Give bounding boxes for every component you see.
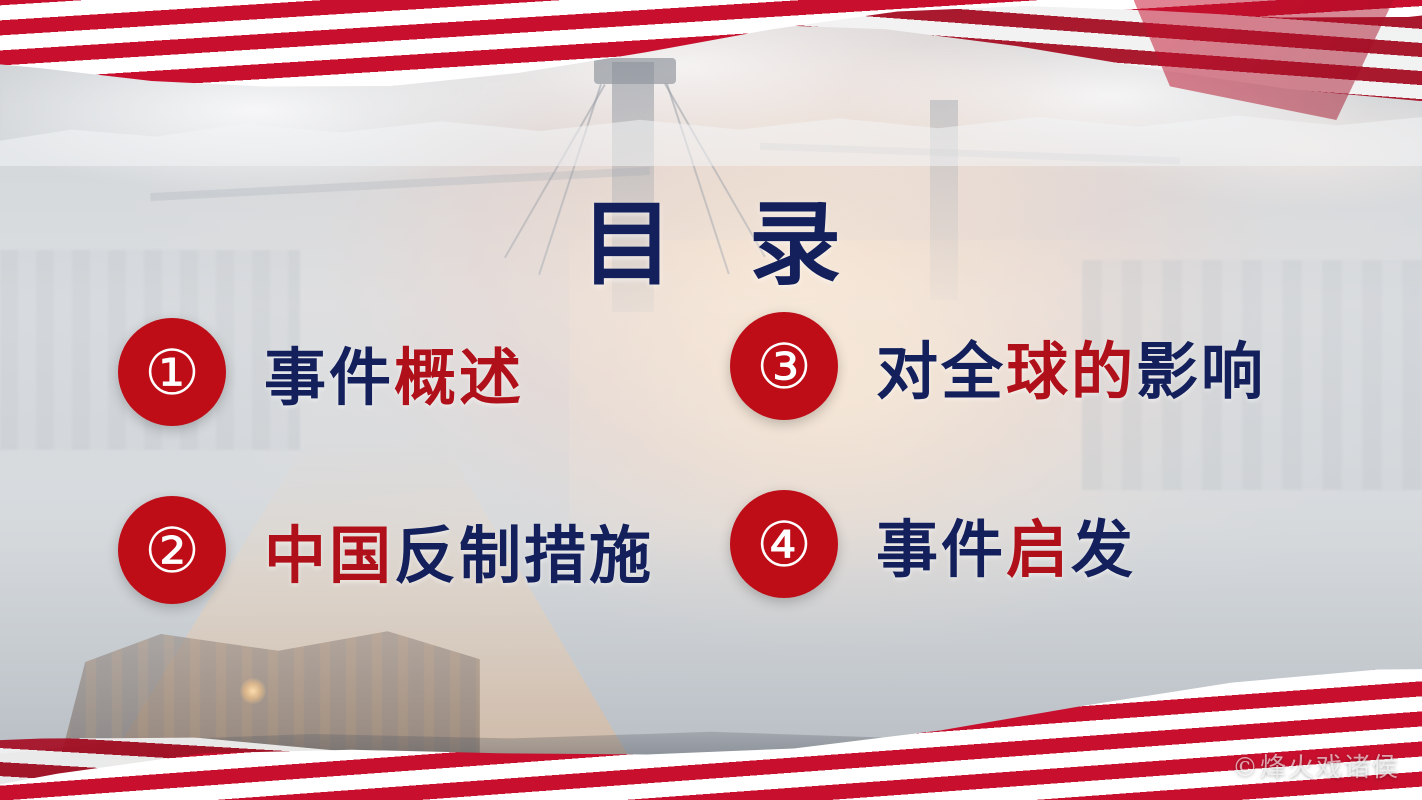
watermark-text: ©烽火戏诸侯 bbox=[1232, 747, 1400, 784]
toc-label-3-part-1: 对全 bbox=[876, 335, 1006, 408]
toc-label-2-part-1: 中国 bbox=[264, 519, 394, 592]
toc-label-2-part-2: 反制 bbox=[394, 519, 524, 592]
toc-label-3: 对全球的影响 bbox=[876, 321, 1266, 411]
bottom-ribbon-stripes-front bbox=[0, 650, 1422, 800]
toc-label-4-part-3: 发 bbox=[1071, 513, 1136, 586]
bottom-flag-ribbon bbox=[0, 650, 1422, 800]
toc-label-4-part-2: 启 bbox=[1006, 513, 1071, 586]
toc-item-4[interactable]: ④ 事件启发 bbox=[730, 490, 1136, 598]
toc-number-badge-4: ④ bbox=[730, 490, 838, 598]
toc-number-badge-2: ② bbox=[118, 496, 226, 604]
toc-label-4: 事件启发 bbox=[876, 499, 1136, 589]
toc-label-1-part-1: 事件 bbox=[264, 341, 394, 414]
toc-item-2[interactable]: ② 中国反制措施 bbox=[118, 496, 654, 604]
table-of-contents: ① 事件概述 ② 中国反制措施 ③ 对全球的影响 ④ 事件启发 bbox=[0, 300, 1422, 660]
toc-label-2: 中国反制措施 bbox=[264, 505, 654, 595]
toc-label-3-part-3: 影响 bbox=[1136, 335, 1266, 408]
toc-label-3-part-2: 球的 bbox=[1006, 335, 1136, 408]
slide-canvas: 目 录 ① 事件概述 ② 中国反制措施 ③ 对全球的影响 ④ 事件启发 bbox=[0, 0, 1422, 800]
toc-label-4-part-1: 事件 bbox=[876, 513, 1006, 586]
toc-number-badge-1: ① bbox=[118, 318, 226, 426]
top-ribbon-fold bbox=[1134, 0, 1394, 120]
toc-number-badge-3: ③ bbox=[730, 312, 838, 420]
toc-label-2-part-3: 措施 bbox=[524, 519, 654, 592]
page-title: 目 录 bbox=[0, 170, 1422, 303]
toc-label-1-part-2: 概述 bbox=[394, 341, 524, 414]
toc-label-1: 事件概述 bbox=[264, 327, 524, 417]
toc-item-3[interactable]: ③ 对全球的影响 bbox=[730, 312, 1266, 420]
toc-item-1[interactable]: ① 事件概述 bbox=[118, 318, 524, 426]
